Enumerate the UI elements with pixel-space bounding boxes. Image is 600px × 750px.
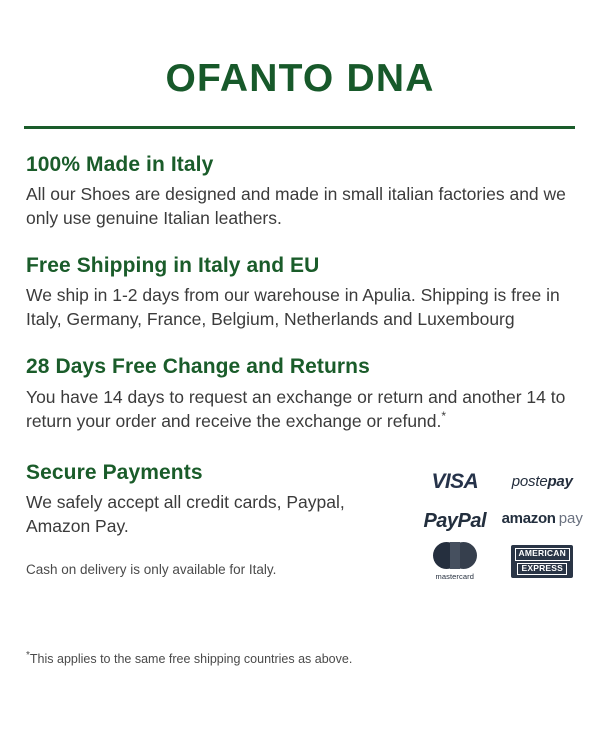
section-body-made-in-italy: All our Shoes are designed and made in s… (26, 183, 574, 231)
postepay-label-regular: poste (512, 473, 548, 490)
section-body-free-shipping: We ship in 1-2 days from our warehouse i… (26, 284, 574, 332)
payment-logos-row-1: VISA postepay (411, 462, 586, 502)
payment-logos-row-2: PayPal amazonpay (411, 502, 586, 542)
mastercard-circles (433, 542, 477, 569)
amex-line-1: AMERICAN (515, 548, 570, 561)
section-free-shipping: Free Shipping in Italy and EU We ship in… (26, 253, 574, 332)
mastercard-logo-cell: mastercard (411, 542, 499, 581)
mastercard-label: mastercard (435, 572, 474, 581)
amazon-pay-label: pay (559, 510, 583, 527)
sections-container: 100% Made in Italy All our Shoes are des… (26, 152, 574, 594)
visa-icon: VISA (431, 470, 478, 494)
american-express-logo-cell: AMERICAN EXPRESS (499, 545, 587, 578)
section-free-change-returns: 28 Days Free Change and Returns You have… (26, 354, 574, 433)
amazon-swoosh-icon (503, 526, 547, 532)
american-express-icon: AMERICAN EXPRESS (511, 545, 573, 578)
amazon-label: amazon (502, 510, 556, 527)
section-secure-payments: Secure Payments We safely accept all cre… (26, 460, 574, 580)
postepay-label-bold: pay (547, 473, 572, 490)
cash-on-delivery-note: Cash on delivery is only available for I… (26, 561, 396, 580)
section-heading-secure-payments: Secure Payments (26, 460, 396, 486)
amazon-pay-logo-cell: amazonpay (499, 511, 587, 532)
section-made-in-italy: 100% Made in Italy All our Shoes are des… (26, 152, 574, 231)
section-body-free-change-returns: You have 14 days to request an exchange … (26, 386, 574, 434)
page-footnote: *This applies to the same free shipping … (26, 651, 352, 669)
payment-logos-group: VISA postepay PayPal amazonpay (411, 462, 586, 582)
postepay-logo-cell: postepay (499, 473, 587, 490)
amazon-pay-icon: amazonpay (502, 511, 583, 532)
visa-logo-cell: VISA (411, 470, 499, 494)
payment-logos-row-3: mastercard AMERICAN EXPRESS (411, 542, 586, 582)
paypal-icon: PayPal (423, 510, 486, 533)
paypal-logo-cell: PayPal (411, 510, 499, 533)
returns-footnote-marker: * (441, 409, 446, 423)
page-title: OFANTO DNA (0, 58, 600, 101)
amex-line-2: EXPRESS (517, 563, 567, 576)
section-body-secure-payments: We safely accept all credit cards, Paypa… (26, 491, 396, 539)
title-divider (24, 126, 575, 129)
section-heading-made-in-italy: 100% Made in Italy (26, 152, 574, 178)
ofanto-dna-panel: OFANTO DNA 100% Made in Italy All our Sh… (0, 0, 600, 750)
footnote-text: This applies to the same free shipping c… (30, 652, 352, 666)
secure-payments-text-column: Secure Payments We safely accept all cre… (26, 460, 396, 580)
section-heading-free-change-returns: 28 Days Free Change and Returns (26, 354, 574, 380)
postepay-icon: postepay (512, 473, 573, 490)
mastercard-icon: mastercard (433, 542, 477, 581)
mastercard-circle-overlap (450, 542, 460, 569)
section-body-text: You have 14 days to request an exchange … (26, 387, 565, 431)
section-heading-free-shipping: Free Shipping in Italy and EU (26, 253, 574, 279)
